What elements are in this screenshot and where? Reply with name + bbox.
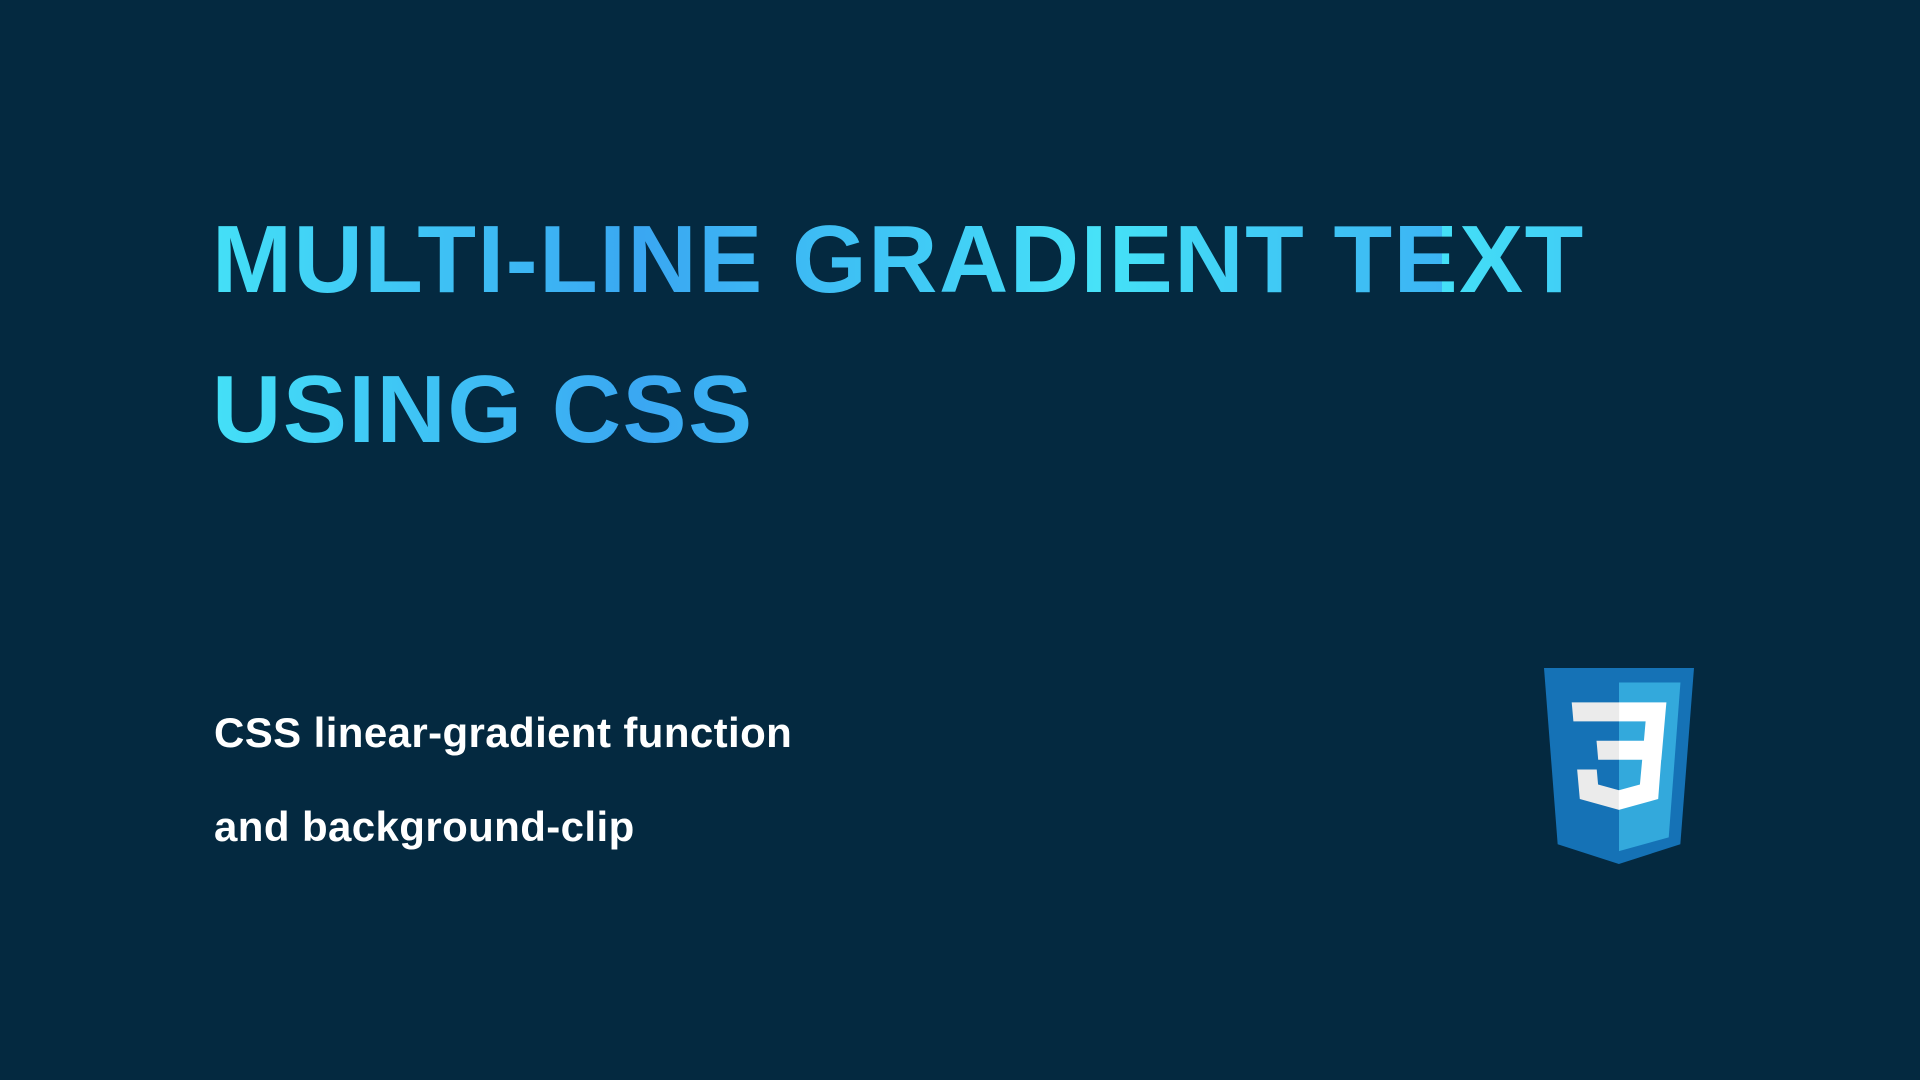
heading-line-2: Using CSS <box>212 335 1772 485</box>
slide-canvas: Multi-line Gradient Text Using CSS CSS l… <box>0 0 1920 1080</box>
heading-block: Multi-line Gradient Text Using CSS <box>212 185 1772 485</box>
heading-line-1: Multi-line Gradient Text <box>212 185 1772 335</box>
subtitle-line-1: CSS linear-gradient function <box>214 686 1194 780</box>
css3-shield-icon <box>1544 668 1694 864</box>
css3-logo <box>1544 668 1694 864</box>
subtitle-block: CSS linear-gradient function and backgro… <box>214 686 1194 874</box>
subtitle-line-2: and background-clip <box>214 780 1194 874</box>
